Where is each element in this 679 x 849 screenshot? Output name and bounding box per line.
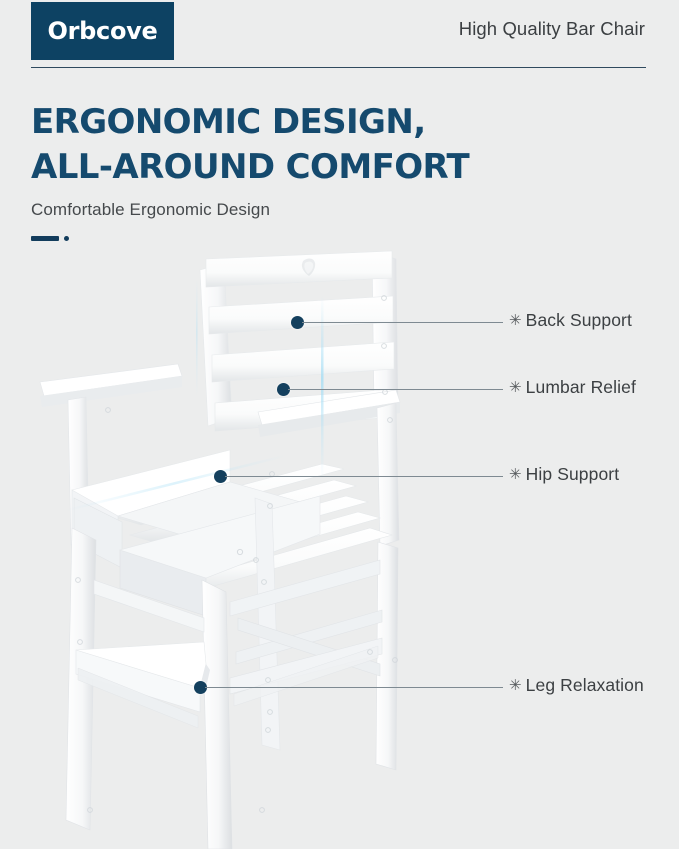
callout-text: Leg Relaxation <box>526 675 644 695</box>
headline-block: ERGONOMIC DESIGN, ALL-AROUND COMFORT <box>31 100 591 190</box>
asterisk-icon: ✳ <box>509 312 522 329</box>
headline-line-2: ALL-AROUND COMFORT <box>31 145 591 190</box>
asterisk-icon: ✳ <box>509 379 522 396</box>
callout-line-back-support <box>302 322 503 323</box>
header-product-title: High Quality Bar Chair <box>459 18 645 40</box>
brand-logo: Orbcove <box>31 2 174 60</box>
headline-subtitle: Comfortable Ergonomic Design <box>31 200 270 220</box>
callout-label-back-support: ✳Back Support <box>509 310 632 331</box>
brand-logo-text: Orbcove <box>48 17 158 45</box>
callout-label-hip-support: ✳Hip Support <box>509 464 619 485</box>
accent-rule <box>31 236 69 241</box>
callout-line-leg-relaxation <box>205 687 503 688</box>
asterisk-icon: ✳ <box>509 677 522 694</box>
page-header: Orbcove High Quality Bar Chair <box>0 0 679 70</box>
product-image-stage: ✳Back Support ✳Lumbar Relief ✳Hip Suppor… <box>0 250 679 849</box>
accent-dot <box>64 236 69 241</box>
callout-label-lumbar-relief: ✳Lumbar Relief <box>509 377 636 398</box>
bar-chair-illustration <box>0 250 679 849</box>
callout-label-leg-relaxation: ✳Leg Relaxation <box>509 675 644 696</box>
callout-text: Back Support <box>526 310 632 330</box>
callout-text: Hip Support <box>526 464 620 484</box>
callout-text: Lumbar Relief <box>526 377 636 397</box>
asterisk-icon: ✳ <box>509 466 522 483</box>
callout-line-lumbar-relief <box>288 389 503 390</box>
header-divider <box>31 67 646 68</box>
callout-line-hip-support <box>225 476 503 477</box>
headline-line-1: ERGONOMIC DESIGN, <box>31 100 591 145</box>
accent-bar <box>31 236 59 241</box>
